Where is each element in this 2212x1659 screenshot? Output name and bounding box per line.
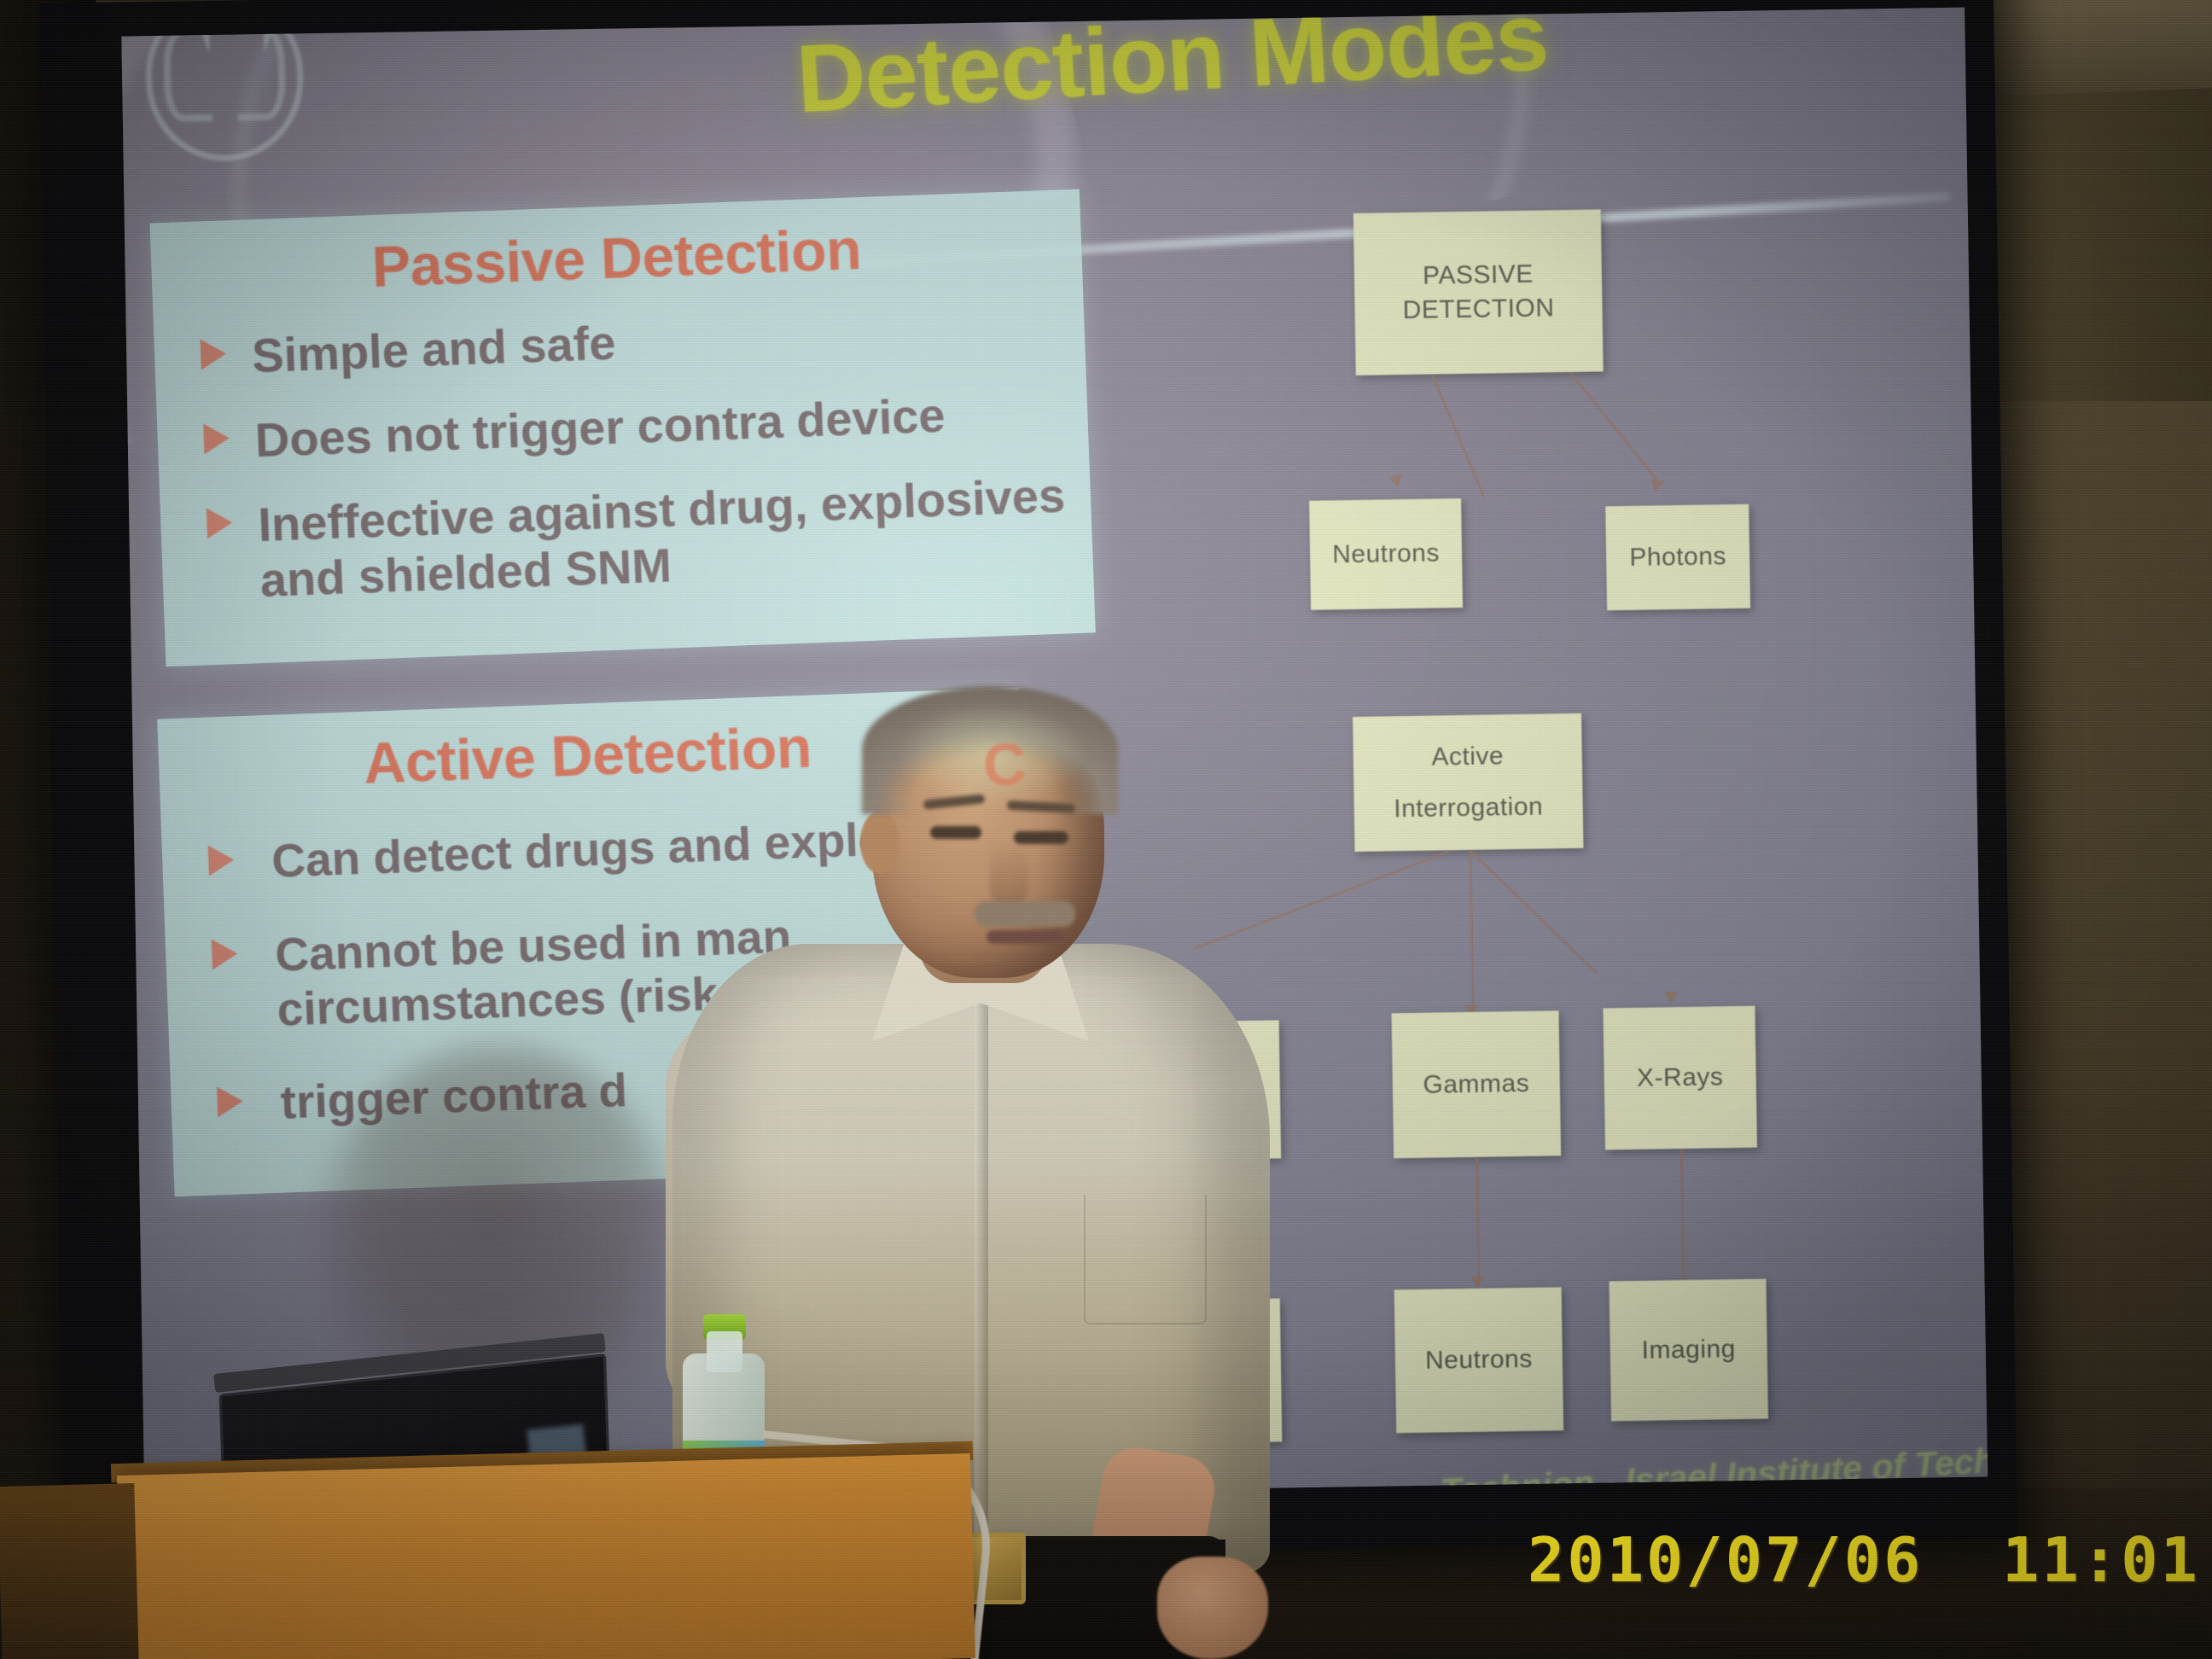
shirt-pocket xyxy=(1084,1195,1207,1324)
bullet-arrow-icon xyxy=(208,844,235,876)
mouth xyxy=(987,930,1065,944)
list-item: Simple and safe xyxy=(162,299,1077,387)
flow-edge xyxy=(1476,1157,1480,1282)
flow-edge xyxy=(1431,375,1485,498)
flow-node-active-xrays: X-Rays xyxy=(1603,1006,1757,1150)
list-item: Ineffective against drug, explosives and… xyxy=(168,468,1085,612)
flow-node-active-interrogation: Active Interrogation xyxy=(1353,713,1583,852)
flow-edge xyxy=(1570,373,1658,480)
bullet-text: Simple and safe xyxy=(251,316,616,383)
passive-detection-panel: Passive Detection Simple and safe Does n… xyxy=(149,189,1095,667)
flow-node-passive-photons: Photons xyxy=(1605,504,1750,611)
flow-arrow-icon xyxy=(1470,1277,1484,1289)
flow-edge xyxy=(1470,850,1475,1014)
bullet-arrow-icon xyxy=(212,938,238,969)
passive-detection-bullet-list: Simple and safe Does not trigger contra … xyxy=(162,299,1086,641)
eye-left xyxy=(930,826,981,839)
bullet-arrow-icon xyxy=(203,422,230,454)
flow-node-passive-detection: PASSIVE DETECTION xyxy=(1353,209,1604,375)
flow-node-result-imaging: Imaging xyxy=(1609,1278,1768,1421)
moustache xyxy=(975,901,1075,927)
shirt-placket xyxy=(975,983,988,1546)
flow-edge xyxy=(1680,1149,1685,1287)
flow-node-passive-neutrons: Neutrons xyxy=(1309,498,1463,610)
bullet-text: Does not trigger contra device xyxy=(254,388,946,468)
flow-edge xyxy=(1470,850,1597,974)
bullet-arrow-icon xyxy=(200,338,226,370)
wooden-podium xyxy=(117,1453,975,1659)
list-item: Does not trigger contra device xyxy=(166,383,1080,472)
slide-footer-credit: Technion - Israel Institute of Technolog… xyxy=(1439,1434,1988,1505)
projected-letter-c: C xyxy=(981,730,1028,800)
flow-node-result-neutrons: Neutrons xyxy=(1394,1287,1564,1433)
bullet-arrow-icon xyxy=(217,1086,243,1118)
flow-node-active-gammas: Gammas xyxy=(1392,1010,1562,1158)
bullet-text: Ineffective against drug, explosives and… xyxy=(257,468,1066,607)
flow-arrow-icon xyxy=(1664,992,1678,1004)
camera-timestamp: 2010/07/06 11:01 xyxy=(1528,1524,2200,1596)
nose xyxy=(990,841,1027,908)
flow-arrow-icon xyxy=(1388,474,1405,489)
podium-side-panel xyxy=(0,1483,139,1659)
presenter-hand xyxy=(1157,1557,1268,1659)
passive-detection-heading: Passive Detection xyxy=(150,208,1082,309)
lecture-photograph: Detection Modes Passive Detection Simple… xyxy=(0,0,2212,1659)
presenter-ear xyxy=(860,811,899,874)
flow-arrow-icon xyxy=(1649,479,1664,493)
bullet-arrow-icon xyxy=(207,507,233,538)
